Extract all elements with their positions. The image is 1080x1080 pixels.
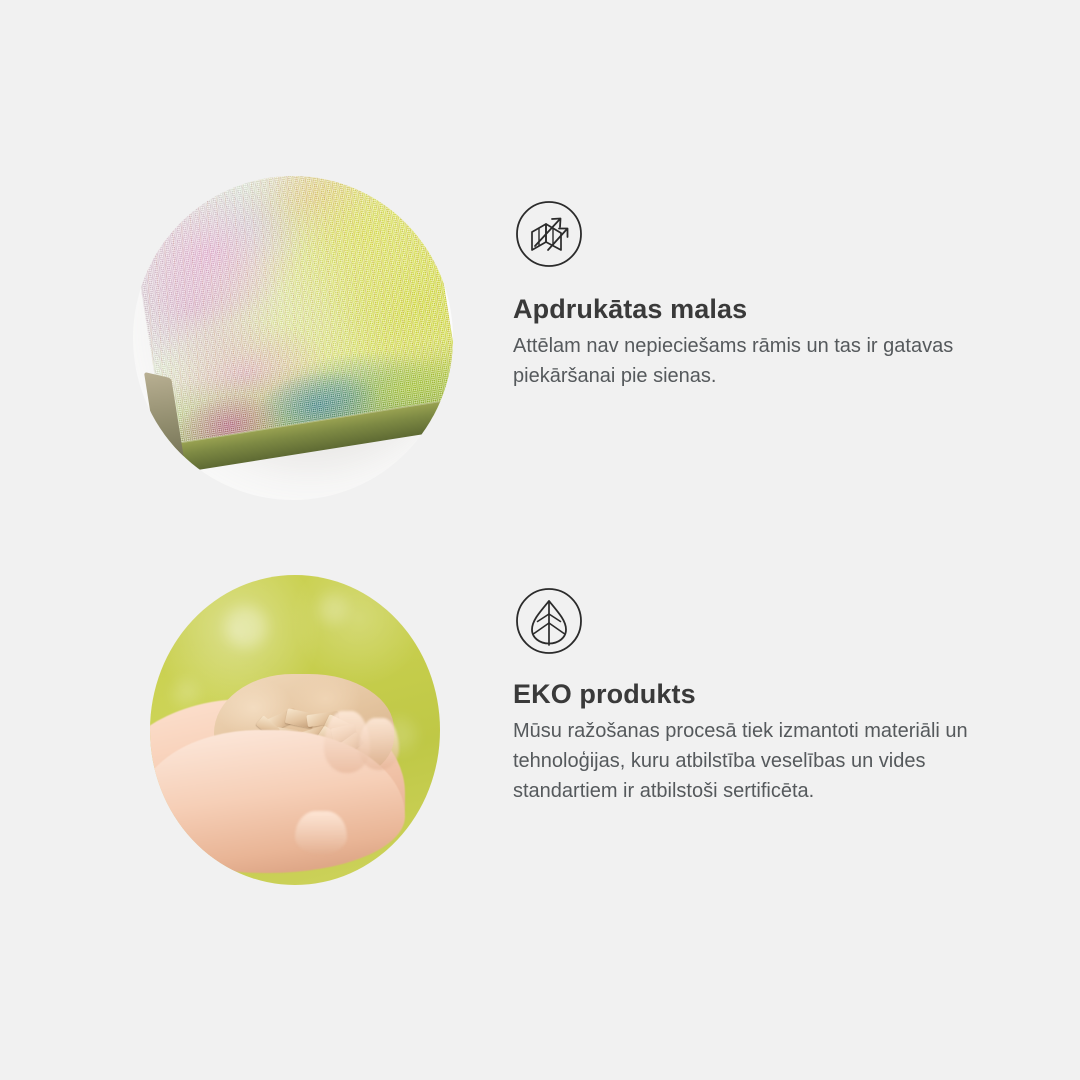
feature-title-eco-product: EKO produkts	[513, 679, 1013, 710]
feature-block-printed-edges: Apdrukātas malas Attēlam nav nepieciešam…	[0, 176, 1080, 506]
wrapped-canvas-edge-icon	[513, 198, 585, 270]
feature-infographic: Apdrukātas malas Attēlam nav nepieciešam…	[0, 0, 1080, 1080]
finger	[359, 718, 400, 771]
bokeh-dot	[225, 606, 267, 648]
feature-block-eco-product: EKO produkts Mūsu ražošanas procesā tiek…	[0, 575, 1080, 895]
feature-body-printed-edges: Attēlam nav nepieciešams rāmis un tas ir…	[513, 331, 993, 391]
feature-title-printed-edges: Apdrukātas malas	[513, 294, 1013, 325]
bokeh-dot	[173, 680, 199, 706]
thumb	[295, 811, 347, 854]
leaf-icon	[513, 585, 585, 657]
feature-image-eco-product	[150, 575, 440, 885]
feature-image-printed-edges	[133, 176, 453, 500]
feature-text-printed-edges: Apdrukātas malas Attēlam nav nepieciešam…	[513, 198, 1013, 391]
feature-body-eco-product: Mūsu ražošanas procesā tiek izmantoti ma…	[513, 716, 993, 806]
canvas-corner-photo	[133, 176, 453, 500]
bokeh-dot	[318, 594, 348, 624]
feature-text-eco-product: EKO produkts Mūsu ražošanas procesā tiek…	[513, 585, 1013, 806]
